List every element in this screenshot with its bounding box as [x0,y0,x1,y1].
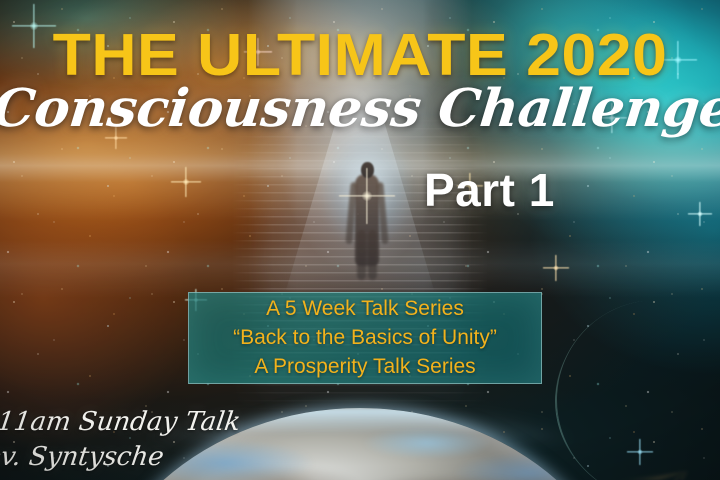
ascending-figure-icon [342,158,392,280]
poster-canvas: THE ULTIMATE 2020 Consciousness Challeng… [0,0,720,480]
figure-torso [355,174,379,266]
info-line-2: “Back to the Basics of Unity” [233,324,497,352]
service-time-line: & 11am Sunday Talk [0,406,268,439]
info-line-3: A Prosperity Talk Series [254,353,475,381]
service-speaker-line: Rev. Syntysche [0,441,268,474]
talk-series-info-panel: A 5 Week Talk Series “Back to the Basics… [188,292,542,384]
service-time-note: & 11am Sunday Talk Rev. Syntysche [0,406,266,475]
info-line-1: A 5 Week Talk Series [266,295,464,323]
part-label: Part 1 [424,163,555,217]
poster-title-script: Consciousness Challenge [0,83,720,135]
figure-head [361,162,374,178]
poster-title-main: THE ULTIMATE 2020 [0,26,720,85]
